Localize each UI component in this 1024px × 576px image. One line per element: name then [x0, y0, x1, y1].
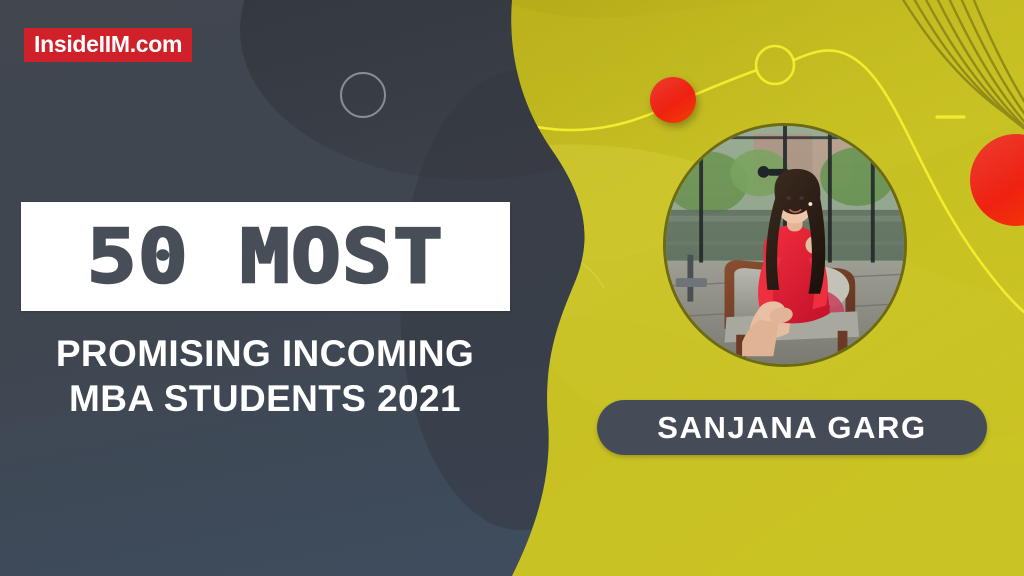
- headline-subtitle: PROMISING INCOMING MBA STUDENTS 2021: [0, 331, 530, 421]
- portrait-illustration: [666, 126, 904, 364]
- headline-block: 50 MOST PROMISING INCOMING MBA STUDENTS …: [0, 202, 530, 421]
- featured-person-name: SANJANA GARG: [657, 410, 927, 446]
- headline-subtitle-line-1: PROMISING INCOMING: [0, 331, 530, 376]
- brand-logo-chip[interactable]: InsideIIM.com: [24, 28, 192, 62]
- headline-badge: 50 MOST: [21, 202, 510, 311]
- featured-person-photo: [663, 123, 907, 367]
- red-dot-small-decoration: [650, 77, 696, 123]
- headline-badge-text: 50 MOST: [87, 220, 444, 294]
- poster-canvas: InsideIIM.com 50 MOST PROMISING INCOMING…: [0, 0, 1024, 576]
- brand-logo-text: InsideIIM.com: [34, 33, 182, 56]
- featured-person-name-pill[interactable]: SANJANA GARG: [597, 400, 987, 455]
- headline-subtitle-line-2: MBA STUDENTS 2021: [0, 376, 530, 421]
